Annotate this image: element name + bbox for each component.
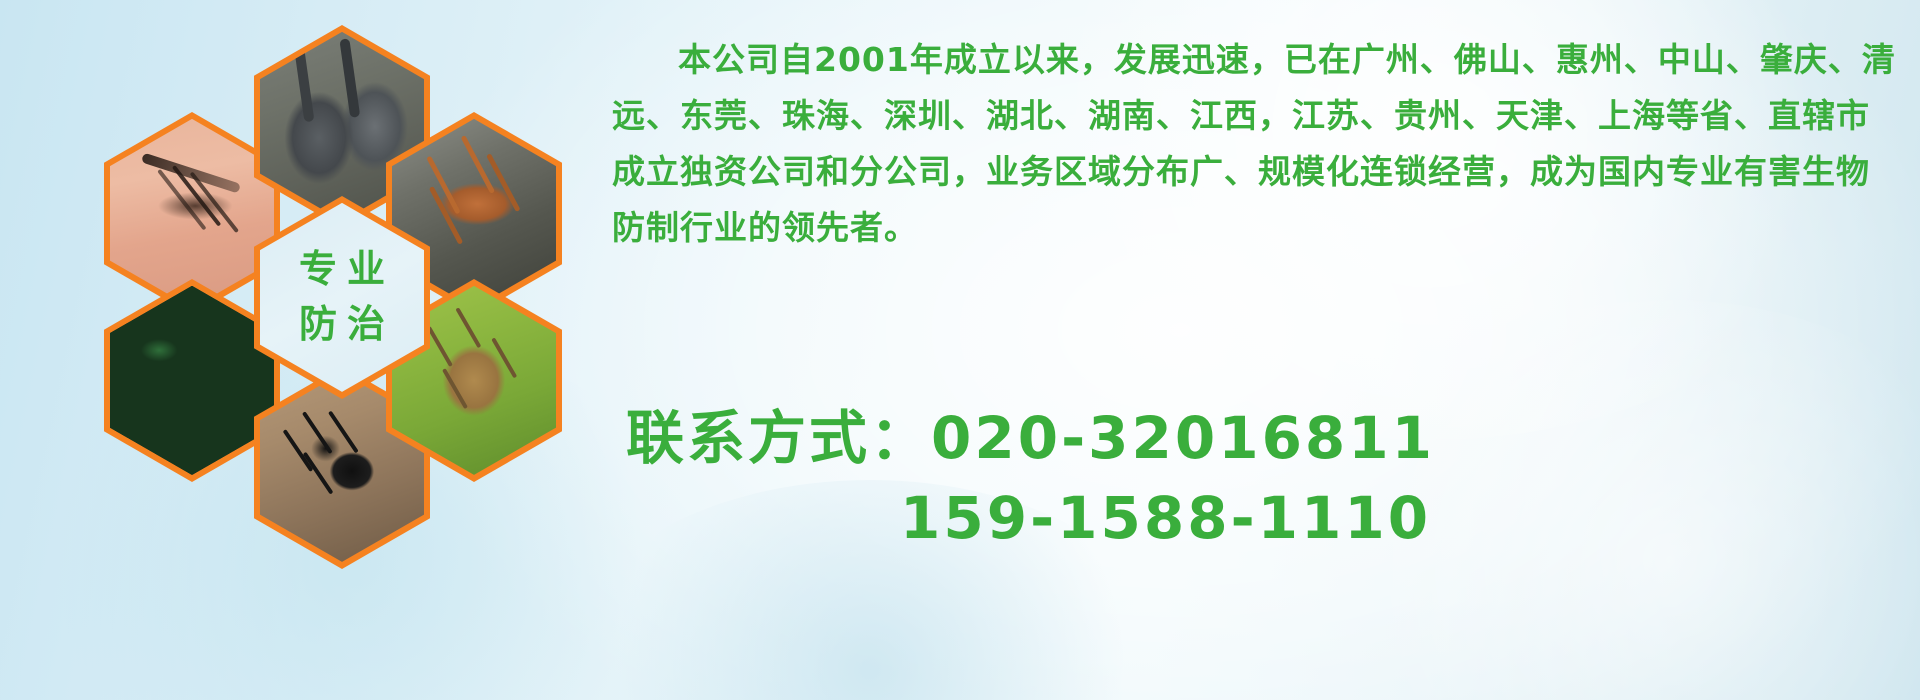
- contact-block: 联系方式：020-32016811 159-1588-1110: [612, 398, 1912, 558]
- honeycomb-image-cluster: 专业 防治: [0, 0, 600, 700]
- hex-inner-slogan: 专业 防治: [260, 203, 424, 392]
- flies-photo: [110, 286, 274, 475]
- company-description-block: 本公司自2001年成立以来，发展迅速，已在广州、佛山、惠州、中山、肇庆、清远、东…: [612, 32, 1912, 256]
- hex-cell-flies[interactable]: [104, 279, 280, 482]
- pest-control-banner: 专业 防治 本公司自2001年成立以来，发展迅速，已在广州、佛山、惠州、中山、肇…: [0, 0, 1920, 700]
- contact-line-landline[interactable]: 联系方式：020-32016811: [612, 398, 1912, 478]
- hex-inner-flies: [110, 286, 274, 475]
- slogan-line-2: 防治: [289, 297, 395, 352]
- slogan-line-1: 专业: [289, 242, 395, 297]
- contact-line-mobile[interactable]: 159-1588-1110: [612, 478, 1912, 558]
- company-description-text: 本公司自2001年成立以来，发展迅速，已在广州、佛山、惠州、中山、肇庆、清远、东…: [612, 32, 1902, 256]
